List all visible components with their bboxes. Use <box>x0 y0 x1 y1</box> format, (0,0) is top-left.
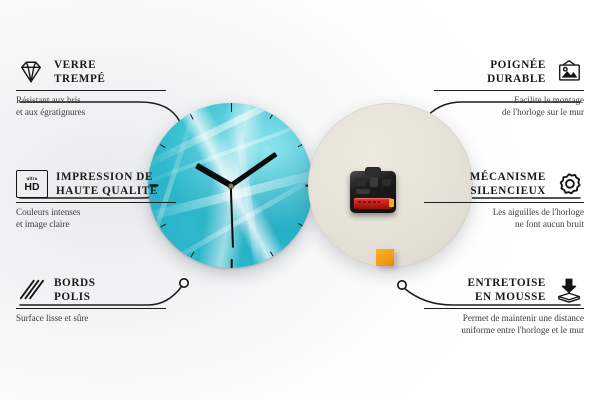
clock-tick <box>231 103 233 186</box>
hanger-lug-icon <box>365 167 381 175</box>
feature-divider <box>16 90 166 91</box>
ultra-hd-large-text: HD <box>24 182 39 193</box>
feature-title: BORDS POLIS <box>54 276 96 305</box>
feature-subtitle: Facilite le montage de l'horloge sur le … <box>434 94 584 118</box>
clock-tick <box>231 185 313 187</box>
feature-header: MÉCANISME SILENCIEUX <box>424 170 584 199</box>
feature-title-line1: ENTRETOISE <box>467 276 546 290</box>
feature-header: BORDS POLIS <box>16 276 166 305</box>
polished-edges-icon <box>16 277 46 303</box>
feature-subtitle: Les aiguilles de l'horloge ne font aucun… <box>424 206 584 230</box>
feature-poignee-durable: POIGNÉE DURABLE Facilite le montage de l… <box>434 58 584 118</box>
feature-mecanisme-silencieux: MÉCANISME SILENCIEUX Les aiguilles de l'… <box>424 170 584 230</box>
feature-header: POIGNÉE DURABLE <box>434 58 584 87</box>
foam-spacer-icon <box>554 277 584 303</box>
foam-spacer <box>376 249 394 266</box>
diamond-icon <box>16 59 46 85</box>
ultra-hd-icon: ultra HD <box>16 170 48 198</box>
clock-battery <box>354 198 392 209</box>
feature-header: ultra HD IMPRESSION DE HAUTE QUALITÉ <box>16 170 176 199</box>
feature-title-line2: DURABLE <box>487 72 546 86</box>
feature-entretoise-en-mousse: ENTRETOISE EN MOUSSE Permet de maintenir… <box>424 276 584 336</box>
feature-sub-line1: Résistant aux bris <box>16 94 166 106</box>
feature-sub-line1: Couleurs intenses <box>16 206 176 218</box>
feature-title: IMPRESSION DE HAUTE QUALITÉ <box>56 170 158 199</box>
feature-title-line2: TREMPÉ <box>54 72 105 86</box>
feature-sub-line1: Surface lisse et sûre <box>16 312 166 324</box>
feature-title-line2: POLIS <box>54 290 96 304</box>
feature-title-line1: BORDS <box>54 276 96 290</box>
feature-divider <box>434 90 584 91</box>
feature-subtitle: Permet de maintenir une distance uniform… <box>424 312 584 336</box>
feature-sub-line1: Les aiguilles de l'horloge <box>424 206 584 218</box>
feature-bords-polis: BORDS POLIS Surface lisse et sûre <box>16 276 166 324</box>
feature-verre-trempe: VERRE TREMPÉ Résistant aux bris et aux é… <box>16 58 166 118</box>
battery-label <box>358 201 380 203</box>
feature-divider <box>16 308 166 309</box>
mechanism-detail <box>355 178 366 186</box>
feature-title: ENTRETOISE EN MOUSSE <box>467 276 546 305</box>
infographic-canvas: VERRE TREMPÉ Résistant aux bris et aux é… <box>0 0 600 400</box>
feature-divider <box>424 202 584 203</box>
feature-sub-line2: et aux égratignures <box>16 106 166 118</box>
feature-title-line1: VERRE <box>54 58 105 72</box>
hanging-frame-icon <box>554 59 584 85</box>
mechanism-detail <box>370 177 378 187</box>
feature-title-line2: EN MOUSSE <box>467 290 546 304</box>
feature-title-line1: POIGNÉE <box>487 58 546 72</box>
feature-title-line2: SILENCIEUX <box>470 184 546 198</box>
clock-mechanism <box>350 171 396 213</box>
feature-title-line1: IMPRESSION DE <box>56 170 158 184</box>
feature-subtitle: Surface lisse et sûre <box>16 312 166 324</box>
mechanism-detail <box>356 189 370 194</box>
feature-sub-line2: de l'horloge sur le mur <box>434 106 584 118</box>
feature-title-line2: HAUTE QUALITÉ <box>56 184 158 198</box>
feature-header: ENTRETOISE EN MOUSSE <box>424 276 584 305</box>
feature-sub-line2: uniforme entre l'horloge et le mur <box>424 324 584 336</box>
feature-impression-haute-qualite: ultra HD IMPRESSION DE HAUTE QUALITÉ Cou… <box>16 170 176 230</box>
battery-plus-terminal <box>389 199 394 207</box>
feature-title: POIGNÉE DURABLE <box>487 58 546 87</box>
feature-subtitle: Couleurs intenses et image claire <box>16 206 176 230</box>
feature-divider <box>424 308 584 309</box>
feature-sub-line1: Facilite le montage <box>434 94 584 106</box>
feature-sub-line2: ne font aucun bruit <box>424 218 584 230</box>
feature-divider <box>16 202 176 203</box>
feature-title: VERRE TREMPÉ <box>54 58 105 87</box>
gear-icon <box>554 171 584 197</box>
feature-sub-line2: et image claire <box>16 218 176 230</box>
marker-dot-entretoise <box>398 281 406 289</box>
feature-title-line1: MÉCANISME <box>470 170 546 184</box>
feature-header: VERRE TREMPÉ <box>16 58 166 87</box>
clock-center-cap <box>228 183 233 188</box>
feature-sub-line1: Permet de maintenir une distance <box>424 312 584 324</box>
marker-dot-bords-polis <box>180 279 188 287</box>
feature-title: MÉCANISME SILENCIEUX <box>470 170 546 199</box>
mechanism-detail <box>382 179 391 186</box>
feature-subtitle: Résistant aux bris et aux égratignures <box>16 94 166 118</box>
